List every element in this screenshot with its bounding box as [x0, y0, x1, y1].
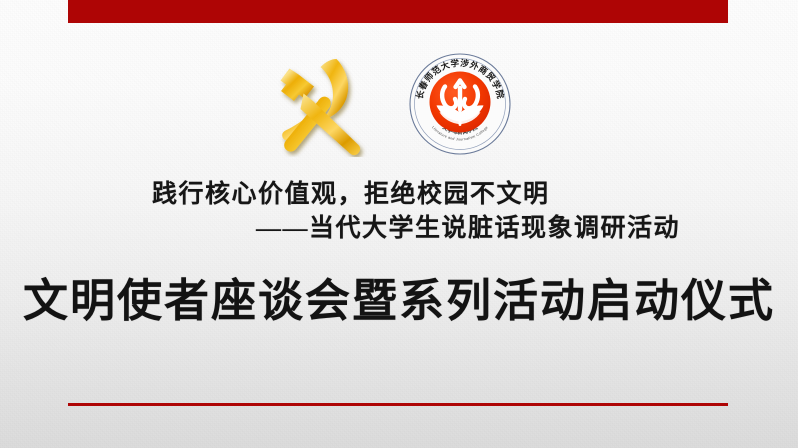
subtitle-block: 践行核心价值观，拒绝校园不文明 ——当代大学生说脏话现象调研活动	[0, 178, 798, 246]
bottom-red-rule	[68, 403, 728, 406]
subtitle-line-2: ——当代大学生说脏话现象调研活动	[0, 212, 798, 246]
college-seal-logo: 长春师范大学涉外商贸学院 文学与新闻学院 Literature and Jour…	[408, 52, 512, 156]
cpc-hammer-sickle-emblem	[262, 53, 368, 157]
emblem-row: 长春师范大学涉外商贸学院 文学与新闻学院 Literature and Jour…	[0, 50, 798, 160]
top-red-banner	[68, 0, 728, 23]
presentation-slide: 长春师范大学涉外商贸学院 文学与新闻学院 Literature and Jour…	[0, 0, 798, 448]
subtitle-line-1: 践行核心价值观，拒绝校园不文明	[0, 178, 798, 212]
main-title: 文明使者座谈会暨系列活动启动仪式	[0, 272, 798, 330]
